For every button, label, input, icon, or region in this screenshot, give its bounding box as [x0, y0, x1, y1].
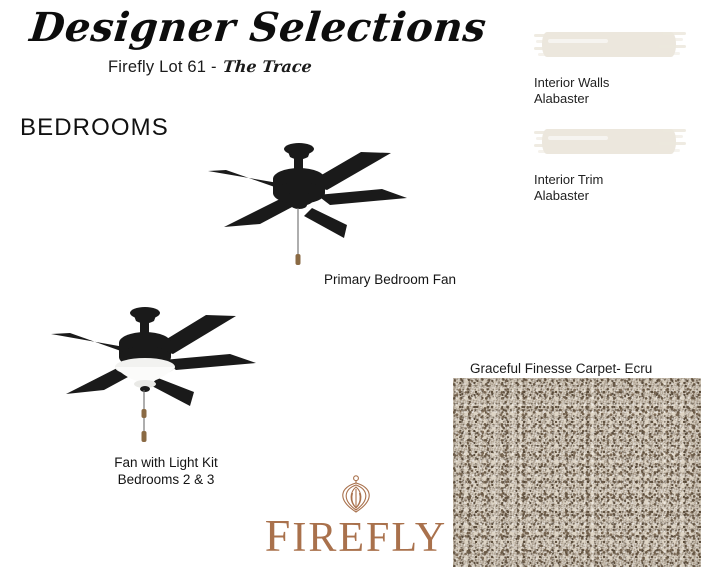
page-title: Designer Selections: [28, 6, 393, 49]
swatch-label-line1: Interior Trim: [534, 172, 686, 188]
fan-pull-chain-icon: [142, 390, 147, 442]
swatch-interior-trim: Interior Trim Alabaster: [534, 124, 686, 203]
swatch-interior-walls: Interior Walls Alabaster: [534, 27, 686, 106]
caption-fan-with-light-kit: Fan with Light Kit Bedrooms 2 & 3: [66, 454, 266, 489]
caption-line2: Bedrooms 2 & 3: [66, 471, 266, 488]
swatch-label-interior-walls: Interior Walls Alabaster: [534, 75, 686, 106]
firefly-ornament-icon: [333, 474, 379, 514]
carpet-swatch-image: [453, 378, 701, 567]
caption-line1: Fan with Light Kit: [66, 454, 266, 471]
wordmark-rest: IREFLY: [292, 515, 447, 561]
paint-brush-stroke-walls: [534, 27, 686, 61]
swatch-label-line2: Alabaster: [534, 188, 686, 204]
section-heading-bedrooms: BEDROOMS: [20, 114, 169, 142]
wordmark-first-letter: F: [265, 510, 293, 561]
firefly-wordmark: FIREFLY: [258, 513, 454, 559]
fan-pull-chain-icon: [296, 208, 301, 265]
swatch-label-interior-trim: Interior Trim Alabaster: [534, 172, 686, 203]
caption-primary-bedroom-fan: Primary Bedroom Fan: [324, 271, 456, 288]
primary-bedroom-fan-image: [186, 132, 476, 267]
paint-brush-stroke-trim: [534, 124, 686, 158]
ceiling-fan-icon: [208, 143, 407, 238]
designer-selections-board: Designer Selections Firefly Lot 61 - The…: [0, 0, 708, 567]
firefly-logo: FIREFLY: [258, 474, 454, 560]
page-subtitle: Firefly Lot 61 - The Trace: [30, 57, 390, 77]
caption-line1: Primary Bedroom Fan: [324, 272, 456, 287]
swatch-label-line2: Alabaster: [534, 91, 686, 107]
swatch-label-line1: Interior Walls: [534, 75, 686, 91]
ceiling-fan-with-light-icon: [51, 307, 256, 406]
page-subtitle-script: The Trace: [222, 57, 312, 76]
fan-with-light-kit-image: [18, 296, 308, 446]
carpet-label: Graceful Finesse Carpet- Ecru: [470, 361, 652, 376]
carpet-grain-overlay: [453, 378, 701, 567]
page-subtitle-plain: Firefly Lot 61 -: [108, 58, 217, 76]
